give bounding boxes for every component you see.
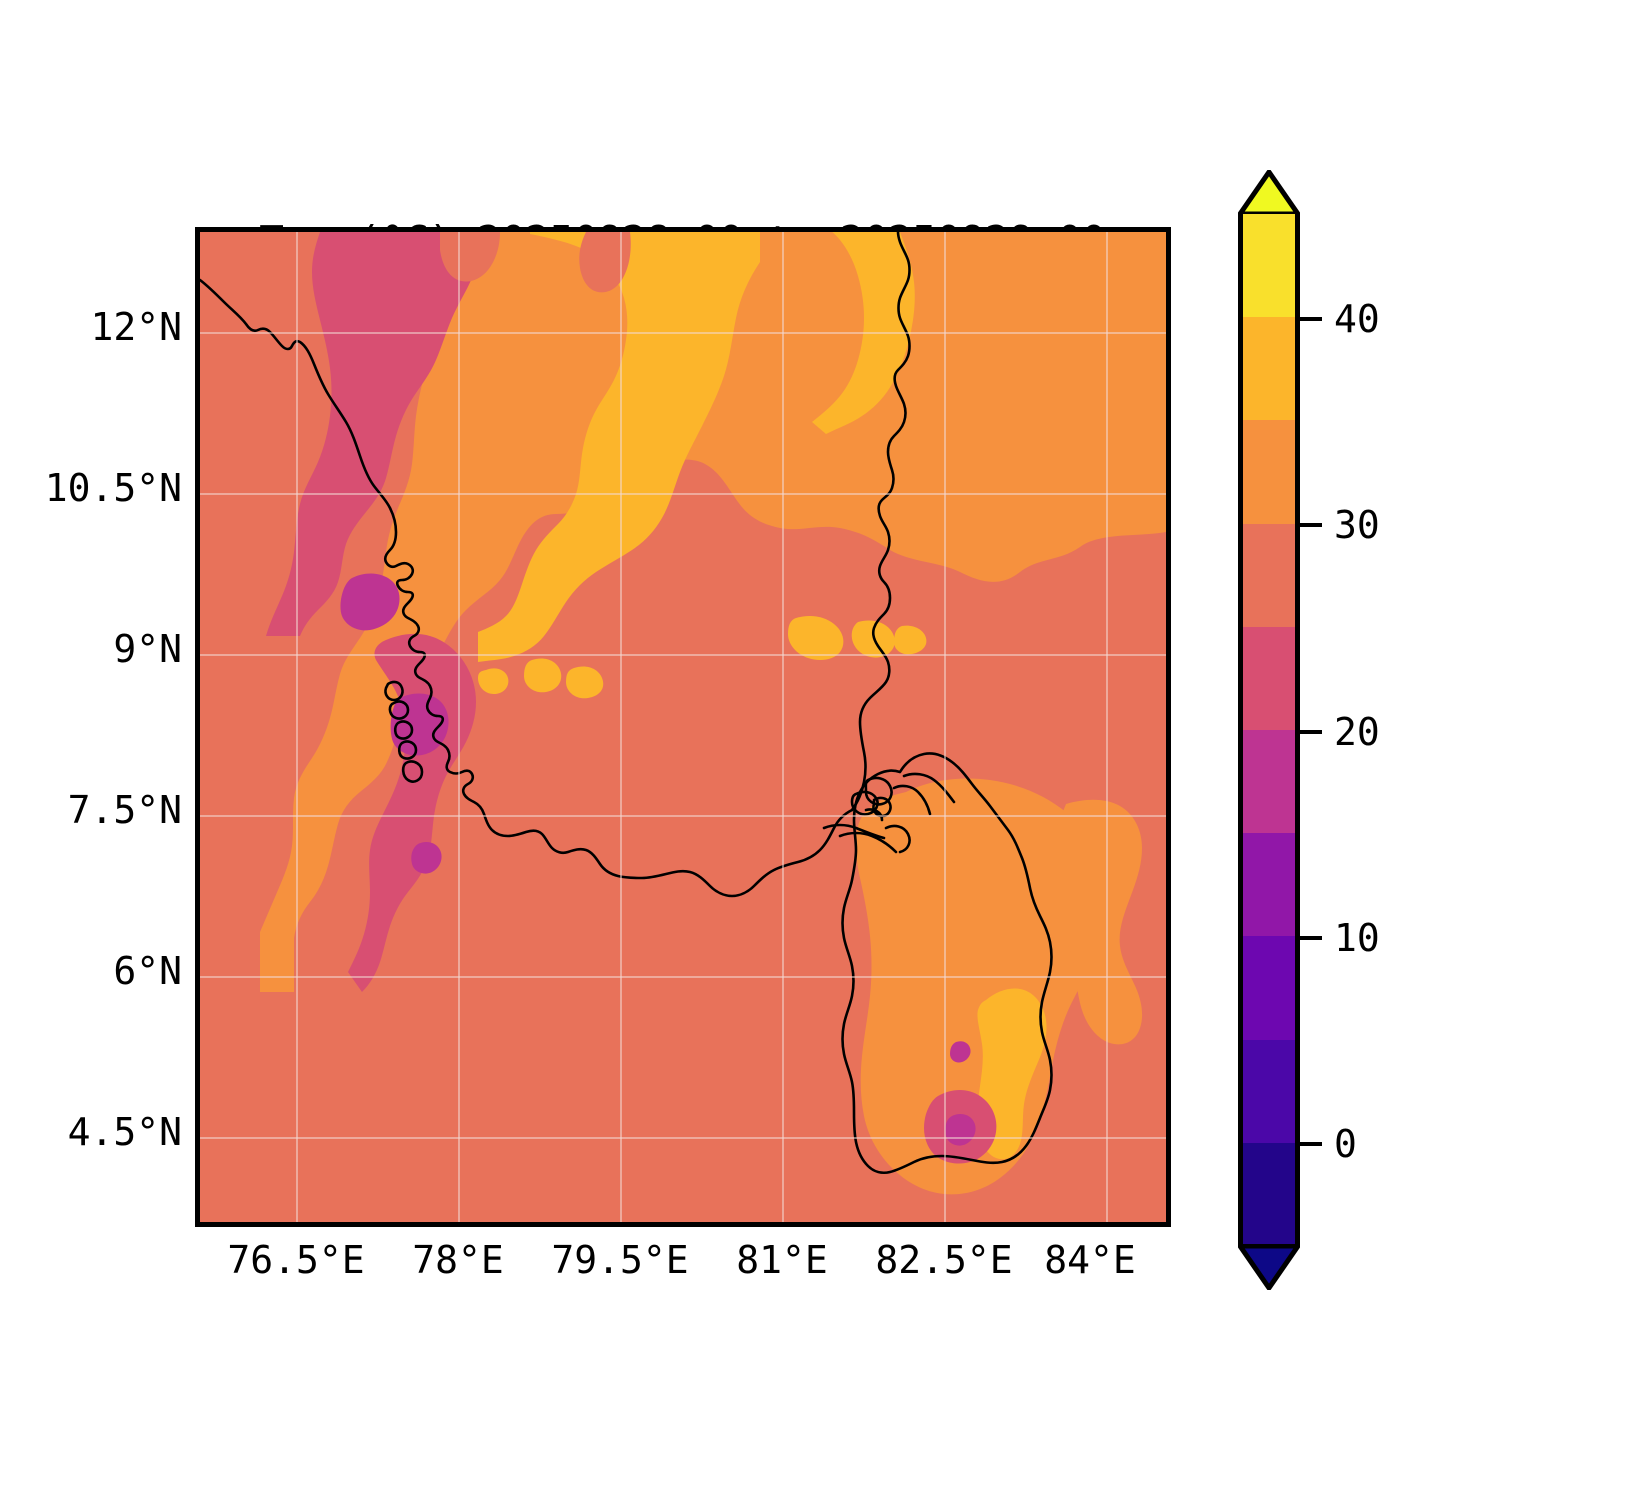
- colorbar-band-40-45: [1238, 214, 1300, 317]
- map-axes: [195, 227, 1171, 1227]
- gridline-lat-12: [200, 332, 1166, 334]
- xtick-label-5: 84°E: [1044, 1238, 1136, 1282]
- xtick-label-4: 82.5°E: [875, 1238, 1012, 1282]
- gridline-lat-4-5: [200, 1137, 1166, 1139]
- colorbar-band-15-20: [1238, 730, 1300, 833]
- temperature-contour-map: [200, 232, 1166, 1222]
- ytick-label-9: 9°N: [113, 627, 182, 671]
- colorbar: 40 30 20 10 0: [1238, 170, 1300, 1290]
- ytick-label-6: 6°N: [113, 949, 182, 993]
- colorbar-band-minus5-0: [1238, 1143, 1300, 1246]
- contour-fill-layer: [200, 232, 1166, 1222]
- colorbar-band-0-5: [1238, 1040, 1300, 1143]
- gridline-lon-78: [458, 232, 460, 1222]
- colorbar-band-30-35: [1238, 420, 1300, 523]
- xtick-label-3: 81°E: [736, 1238, 828, 1282]
- colorbar-band-5-10: [1238, 936, 1300, 1039]
- ytick-label-7-5: 7.5°N: [68, 788, 182, 832]
- figure-root: Tmax(°C) 20250928_00 to 20250929_00 Simu…: [0, 0, 1650, 1500]
- ytick-label-4-5: 4.5°N: [68, 1110, 182, 1154]
- colorbar-band-10-15: [1238, 833, 1300, 936]
- colorbar-tick-label-20: 20: [1334, 710, 1380, 754]
- xtick-label-0: 76.5°E: [227, 1238, 364, 1282]
- gridline-lat-6: [200, 976, 1166, 978]
- colorbar-band-20-25: [1238, 627, 1300, 730]
- gridline-lon-84: [1106, 232, 1108, 1222]
- colorbar-band-35-40: [1238, 317, 1300, 420]
- colorbar-tick-10: [1300, 936, 1322, 940]
- colorbar-tick-label-0: 0: [1334, 1122, 1357, 1166]
- ytick-label-10-5: 10.5°N: [45, 466, 182, 510]
- colorbar-tick-40: [1300, 317, 1322, 321]
- colorbar-tick-30: [1300, 523, 1322, 527]
- gridline-lon-79-5: [620, 232, 622, 1222]
- ytick-label-12: 12°N: [90, 305, 182, 349]
- colorbar-tick-label-40: 40: [1334, 297, 1380, 341]
- gridline-lon-76-5: [296, 232, 298, 1222]
- gridline-lat-7-5: [200, 815, 1166, 817]
- gridline-lat-9: [200, 654, 1166, 656]
- colorbar-extend-high-arrow: [1238, 170, 1300, 216]
- map-clip: [200, 232, 1166, 1222]
- colorbar-bands: [1238, 214, 1300, 1246]
- colorbar-tick-label-10: 10: [1334, 916, 1380, 960]
- colorbar-tick-label-30: 30: [1334, 503, 1380, 547]
- gridline-lon-82-5: [944, 232, 946, 1222]
- colorbar-tick-20: [1300, 730, 1322, 734]
- xtick-label-2: 79.5°E: [551, 1238, 688, 1282]
- colorbar-band-25-30: [1238, 524, 1300, 627]
- colorbar-tick-0: [1300, 1142, 1322, 1146]
- xtick-label-1: 78°E: [412, 1238, 504, 1282]
- colorbar-extend-low-arrow: [1238, 1244, 1300, 1290]
- gridline-lon-81: [782, 232, 784, 1222]
- gridline-lat-10-5: [200, 493, 1166, 495]
